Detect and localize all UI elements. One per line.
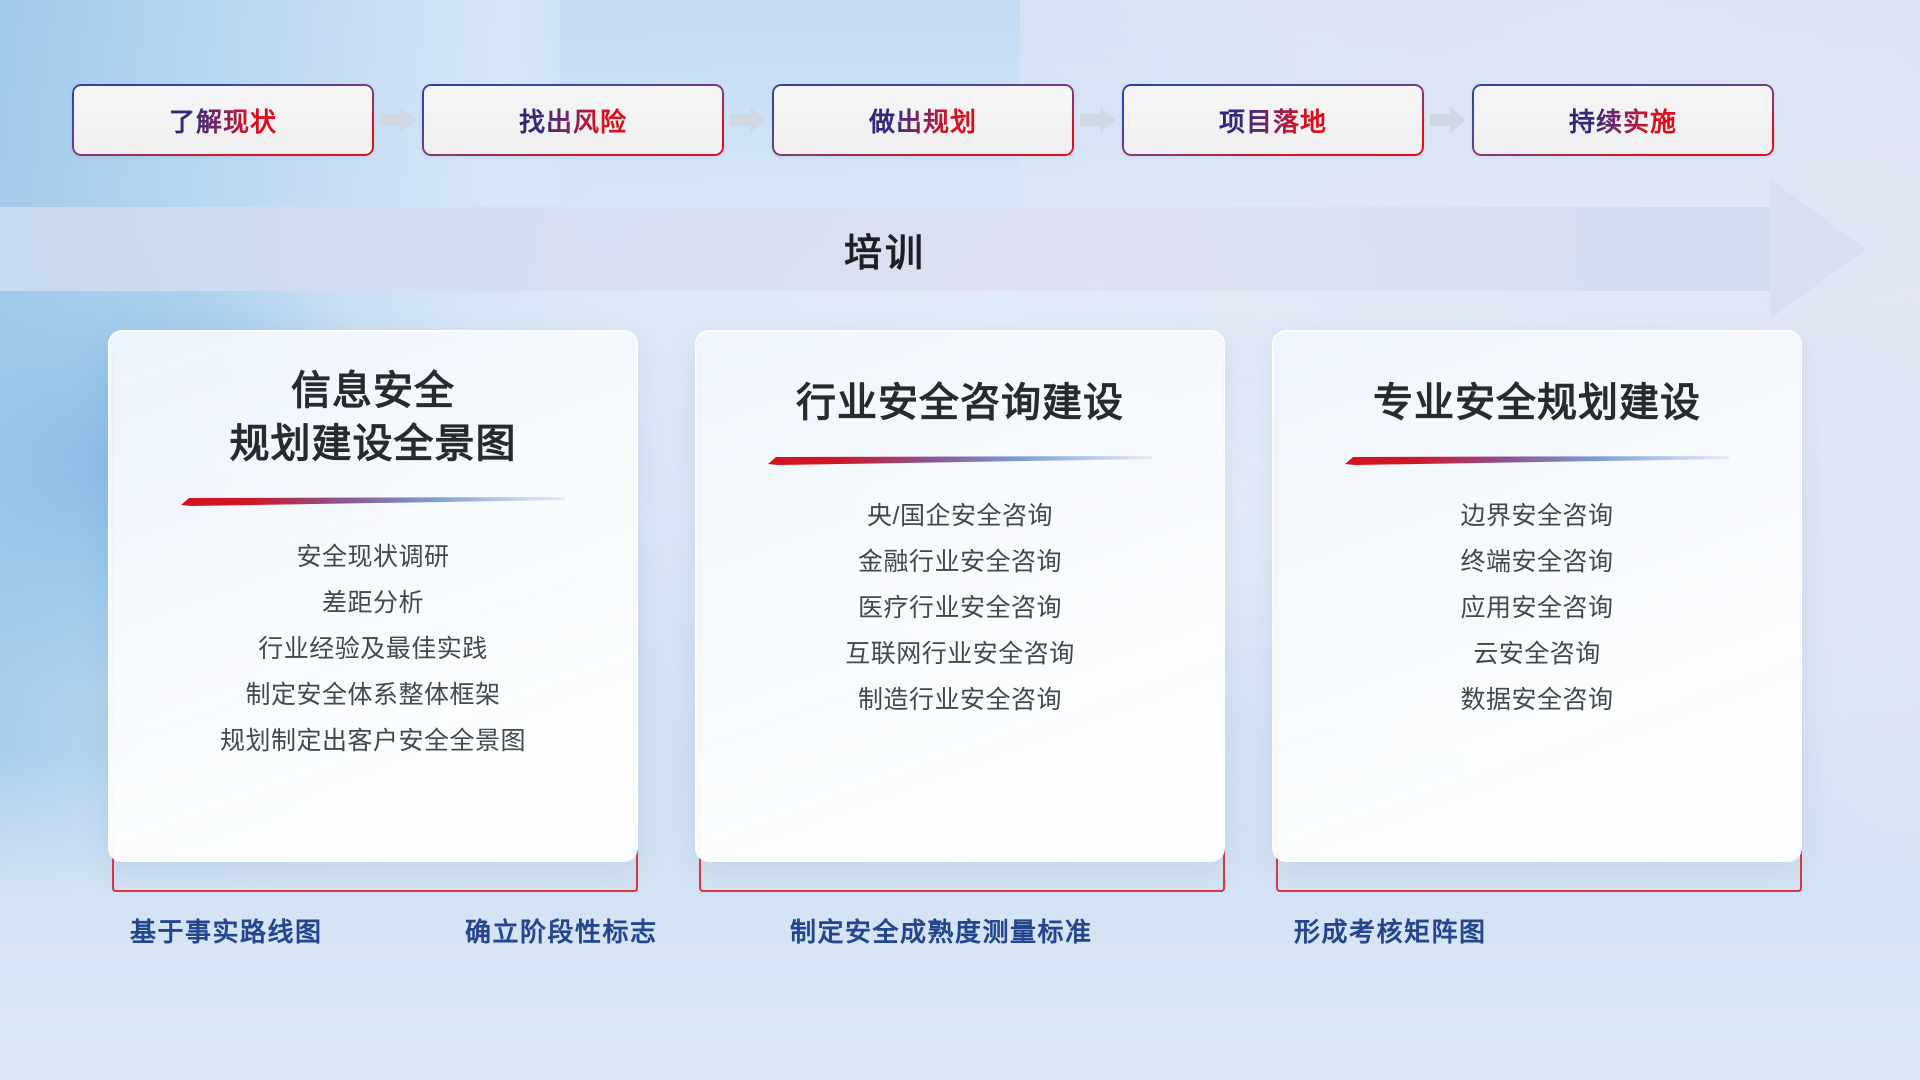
card-2-title: 行业安全咨询建设 xyxy=(778,377,1142,430)
footnote-3: 制定安全成熟度测量标准 xyxy=(790,912,1093,949)
step-label-1: 了解现状 xyxy=(169,102,277,139)
card-1-list: 安全现状调研 差距分析 行业经验及最佳实践 制定安全体系整体框架 规划制定出客户… xyxy=(109,536,637,762)
card-3-list: 边界安全咨询 终端安全咨询 应用安全咨询 云安全咨询 数据安全咨询 xyxy=(1273,495,1801,721)
footnote-1: 基于事实路线图 xyxy=(130,912,323,949)
arrow-right-icon xyxy=(1424,84,1472,156)
card-1-divider xyxy=(181,497,565,506)
list-item: 边界安全咨询 xyxy=(1460,495,1613,537)
list-item: 规划制定出客户安全全景图 xyxy=(220,720,526,762)
card-3-title-line-1: 专业安全规划建设 xyxy=(1373,377,1701,430)
arrow-right-icon xyxy=(374,84,422,156)
list-item: 终端安全咨询 xyxy=(1460,541,1613,583)
card-3-divider xyxy=(1345,456,1729,465)
list-item: 数据安全咨询 xyxy=(1460,679,1613,721)
card-row: 信息安全 规划建设全景图 xyxy=(0,330,1920,890)
footnote-4: 形成考核矩阵图 xyxy=(1294,912,1487,949)
footnote-row: 基于事实路线图 确立阶段性标志 制定安全成熟度测量标准 形成考核矩阵图 xyxy=(0,912,1920,972)
step-label-4: 项目落地 xyxy=(1219,102,1327,139)
list-item: 央/国企安全咨询 xyxy=(867,495,1053,537)
arrow-right-icon xyxy=(1074,84,1122,156)
card-2-list: 央/国企安全咨询 金融行业安全咨询 医疗行业安全咨询 互联网行业安全咨询 制造行… xyxy=(696,495,1224,721)
list-item: 应用安全咨询 xyxy=(1460,587,1613,629)
list-item: 云安全咨询 xyxy=(1473,633,1601,675)
card-2-surface[interactable]: 行业安全咨询建设 xyxy=(695,330,1225,862)
card-3[interactable]: 专业安全规划建设 xyxy=(1272,330,1802,890)
step-box-2[interactable]: 找出风险 xyxy=(422,84,724,156)
card-3-surface[interactable]: 专业安全规划建设 xyxy=(1272,330,1802,862)
step-label-3: 做出规划 xyxy=(869,102,977,139)
step-label-5: 持续实施 xyxy=(1569,102,1677,139)
step-box-3[interactable]: 做出规划 xyxy=(772,84,1074,156)
card-2[interactable]: 行业安全咨询建设 xyxy=(695,330,1225,890)
list-item: 互联网行业安全咨询 xyxy=(845,633,1075,675)
list-item: 差距分析 xyxy=(322,582,424,624)
step-box-4[interactable]: 项目落地 xyxy=(1122,84,1424,156)
list-item: 安全现状调研 xyxy=(296,536,449,578)
card-1-title: 信息安全 规划建设全景图 xyxy=(212,365,535,471)
footnote-2: 确立阶段性标志 xyxy=(465,912,658,949)
list-item: 金融行业安全咨询 xyxy=(858,541,1062,583)
list-item: 制造行业安全咨询 xyxy=(858,679,1062,721)
arrow-right-icon xyxy=(724,84,772,156)
card-1-surface[interactable]: 信息安全 规划建设全景图 xyxy=(108,330,638,862)
process-step-row: 了解现状 找出风险 做出规划 项目落地 持续实施 xyxy=(0,80,1920,160)
card-1-title-line-2: 规划建设全景图 xyxy=(230,418,517,471)
list-item: 制定安全体系整体框架 xyxy=(245,674,500,716)
card-2-title-line-1: 行业安全咨询建设 xyxy=(796,377,1124,430)
step-label-2: 找出风险 xyxy=(519,102,627,139)
banner-arrow-head-icon xyxy=(1770,179,1866,319)
card-1[interactable]: 信息安全 规划建设全景图 xyxy=(108,330,638,890)
step-box-1[interactable]: 了解现状 xyxy=(72,84,374,156)
card-1-title-line-1: 信息安全 xyxy=(230,365,517,418)
step-box-5[interactable]: 持续实施 xyxy=(1472,84,1774,156)
card-3-title: 专业安全规划建设 xyxy=(1355,377,1719,430)
banner-title: 培训 xyxy=(0,207,1770,291)
list-item: 行业经验及最佳实践 xyxy=(258,628,488,670)
card-2-divider xyxy=(768,456,1152,465)
list-item: 医疗行业安全咨询 xyxy=(858,587,1062,629)
training-banner: 培训 xyxy=(0,207,1920,291)
